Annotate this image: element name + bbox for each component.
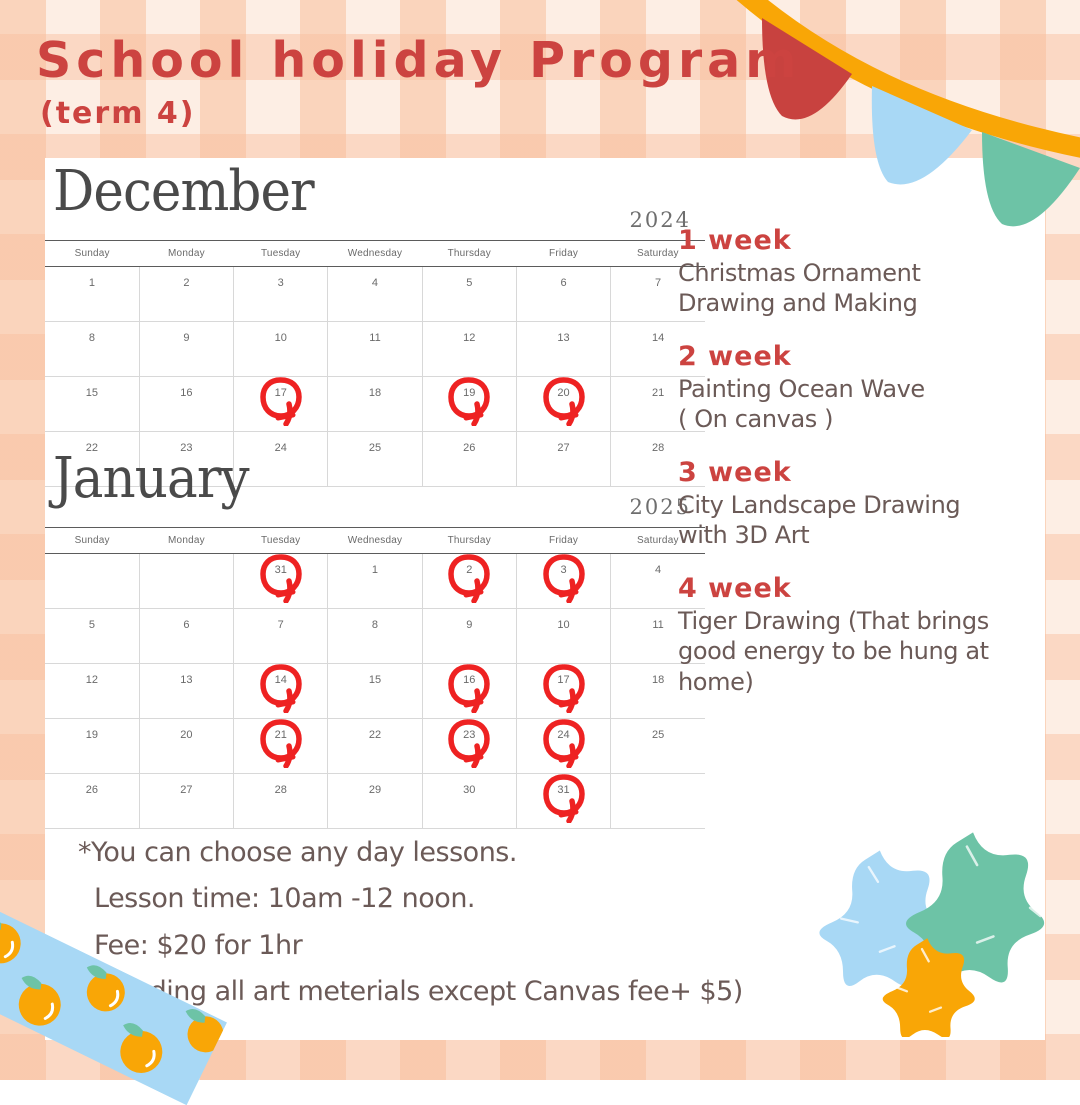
calendar-day-cell[interactable]: 17 <box>516 664 610 719</box>
calendar-week-row: 567891011 <box>45 609 705 664</box>
calendar-body: 3112345678910111213141516171819202122232… <box>45 554 705 829</box>
calendar-day-cell[interactable]: 31 <box>234 554 328 609</box>
day-number: 7 <box>655 277 661 289</box>
day-number: 6 <box>560 277 566 289</box>
program-week-label: 2 week <box>678 341 1058 372</box>
weekday-header: Thursday <box>422 528 516 554</box>
calendar-week-row: 15161718192021 <box>45 377 705 432</box>
note-line: Fee: $20 for 1hr <box>78 923 998 969</box>
day-number: 23 <box>180 442 192 454</box>
weekday-header: Tuesday <box>234 528 328 554</box>
day-number: 10 <box>275 332 287 344</box>
calendar-empty-cell <box>611 774 705 829</box>
day-number: 23 <box>463 729 475 741</box>
poster-header: School holiday Program (term 4) <box>36 36 801 129</box>
day-number: 10 <box>557 619 569 631</box>
calendar-day-cell[interactable]: 2 <box>422 554 516 609</box>
circled-date-marker <box>446 661 492 713</box>
day-number: 28 <box>652 442 664 454</box>
day-number: 14 <box>652 332 664 344</box>
calendar-day-cell[interactable]: 23 <box>422 719 516 774</box>
month-label: December <box>53 164 314 220</box>
day-number: 3 <box>278 277 284 289</box>
page-subtitle: (term 4) <box>40 99 801 129</box>
note-line: Lesson time: 10am -12 noon. <box>78 876 998 922</box>
day-number: 11 <box>652 619 663 631</box>
month-label: January <box>53 451 249 507</box>
weekday-header: Sunday <box>45 528 139 554</box>
day-number: 4 <box>655 564 661 576</box>
day-number: 11 <box>369 332 380 344</box>
day-number: 18 <box>652 674 664 686</box>
day-number: 25 <box>652 729 664 741</box>
day-number: 8 <box>89 332 95 344</box>
calendar-day-cell[interactable]: 17 <box>234 377 328 432</box>
day-number: 16 <box>180 387 192 399</box>
calendar-december-header: December 2024 <box>45 168 705 240</box>
calendar-day-cell[interactable]: 29 <box>328 774 422 829</box>
calendar-day-cell[interactable]: 5 <box>422 267 516 322</box>
weekday-header: Monday <box>139 241 233 267</box>
day-number: 17 <box>557 674 569 686</box>
calendar-week-row: 311234 <box>45 554 705 609</box>
day-number: 27 <box>180 784 192 796</box>
program-description: Tiger Drawing (That bringsgood energy to… <box>678 606 1058 697</box>
calendar-day-cell[interactable]: 28 <box>234 774 328 829</box>
day-number: 12 <box>463 332 475 344</box>
weekday-header: Tuesday <box>234 241 328 267</box>
calendar-day-cell[interactable]: 22 <box>328 719 422 774</box>
calendar-day-cell[interactable]: 3 <box>516 554 610 609</box>
day-number: 8 <box>372 619 378 631</box>
day-number: 30 <box>463 784 475 796</box>
calendar-week-row: 12131415161718 <box>45 664 705 719</box>
calendar-january-header: January 2025 <box>45 455 705 527</box>
calendar-day-cell[interactable]: 6 <box>139 609 233 664</box>
calendar-day-cell[interactable]: 27 <box>139 774 233 829</box>
day-number: 14 <box>275 674 287 686</box>
calendar-december: December 2024 Sunday Monday Tuesday Wedn… <box>45 168 705 487</box>
calendar-day-cell[interactable]: 21 <box>234 719 328 774</box>
program-item: 4 weekTiger Drawing (That bringsgood ene… <box>678 573 1058 697</box>
day-number: 18 <box>369 387 381 399</box>
calendar-day-cell[interactable]: 5 <box>45 609 139 664</box>
day-number: 20 <box>180 729 192 741</box>
calendar-day-cell[interactable]: 20 <box>516 377 610 432</box>
calendar-week-row: 891011121314 <box>45 322 705 377</box>
calendar-day-cell[interactable]: 18 <box>328 377 422 432</box>
circled-date-marker <box>541 771 587 823</box>
calendar-day-cell[interactable]: 7 <box>234 609 328 664</box>
calendar-day-cell[interactable]: 19 <box>422 377 516 432</box>
day-number: 19 <box>463 387 475 399</box>
calendar-day-cell[interactable]: 9 <box>422 609 516 664</box>
day-number: 12 <box>86 674 98 686</box>
program-week-label: 4 week <box>678 573 1058 604</box>
day-number: 9 <box>183 332 189 344</box>
calendar-day-cell[interactable]: 10 <box>234 322 328 377</box>
calendar-day-cell[interactable]: 24 <box>516 719 610 774</box>
day-number: 15 <box>86 387 98 399</box>
day-number: 28 <box>275 784 287 796</box>
program-description: Painting Ocean Wave( On canvas ) <box>678 374 1058 435</box>
calendar-day-cell[interactable]: 19 <box>45 719 139 774</box>
day-number: 26 <box>86 784 98 796</box>
program-item: 3 weekCity Landscape Drawingwith 3D Art <box>678 457 1058 551</box>
program-description: City Landscape Drawingwith 3D Art <box>678 490 1058 551</box>
weekday-header: Monday <box>139 528 233 554</box>
calendar-day-cell[interactable]: 14 <box>234 664 328 719</box>
day-number: 24 <box>275 442 287 454</box>
note-line: (including all art meterials except Canv… <box>78 969 998 1015</box>
day-number: 21 <box>275 729 287 741</box>
weekday-header-row: Sunday Monday Tuesday Wednesday Thursday… <box>45 241 705 267</box>
weekday-header-row: Sunday Monday Tuesday Wednesday Thursday… <box>45 528 705 554</box>
day-number: 26 <box>463 442 475 454</box>
day-number: 31 <box>557 784 569 796</box>
day-number: 2 <box>183 277 189 289</box>
calendar-day-cell[interactable]: 6 <box>516 267 610 322</box>
calendar-day-cell[interactable]: 2 <box>139 267 233 322</box>
circled-date-marker <box>541 551 587 603</box>
calendar-week-row: 262728293031 <box>45 774 705 829</box>
calendar-day-cell[interactable]: 15 <box>45 377 139 432</box>
calendar-day-cell[interactable]: 15 <box>328 664 422 719</box>
weekday-header: Friday <box>516 241 610 267</box>
day-number: 20 <box>557 387 569 399</box>
circled-date-marker <box>541 374 587 426</box>
circled-date-marker <box>258 551 304 603</box>
day-number: 21 <box>652 387 664 399</box>
calendar-day-cell[interactable]: 1 <box>328 554 422 609</box>
day-number: 6 <box>183 619 189 631</box>
day-number: 19 <box>86 729 98 741</box>
weekday-header: Thursday <box>422 241 516 267</box>
calendar-january: January 2025 Sunday Monday Tuesday Wedne… <box>45 455 705 829</box>
calendar-day-cell[interactable]: 13 <box>516 322 610 377</box>
weekday-header: Wednesday <box>328 528 422 554</box>
day-number: 27 <box>557 442 569 454</box>
circled-date-marker <box>446 716 492 768</box>
calendar-empty-cell <box>139 554 233 609</box>
calendar-day-cell[interactable]: 9 <box>139 322 233 377</box>
calendar-day-cell[interactable]: 12 <box>45 664 139 719</box>
day-number: 25 <box>369 442 381 454</box>
day-number: 16 <box>463 674 475 686</box>
calendar-empty-cell <box>45 554 139 609</box>
weekday-header: Wednesday <box>328 241 422 267</box>
day-number: 13 <box>557 332 569 344</box>
weekday-header: Friday <box>516 528 610 554</box>
day-number: 13 <box>180 674 192 686</box>
day-number: 7 <box>278 619 284 631</box>
calendar-day-cell[interactable]: 4 <box>328 267 422 322</box>
day-number: 29 <box>369 784 381 796</box>
circled-date-marker <box>541 661 587 713</box>
day-number: 31 <box>275 564 287 576</box>
day-number: 15 <box>369 674 381 686</box>
program-list: 1 weekChristmas OrnamentDrawing and Maki… <box>678 225 1058 719</box>
calendar-day-cell[interactable]: 31 <box>516 774 610 829</box>
calendar-week-row: 19202122232425 <box>45 719 705 774</box>
day-number: 2 <box>466 564 472 576</box>
day-number: 24 <box>557 729 569 741</box>
calendar-day-cell[interactable]: 25 <box>611 719 705 774</box>
calendar-day-cell[interactable]: 10 <box>516 609 610 664</box>
calendars-region: December 2024 Sunday Monday Tuesday Wedn… <box>45 158 705 918</box>
program-week-label: 3 week <box>678 457 1058 488</box>
calendar-day-cell[interactable]: 16 <box>139 377 233 432</box>
calendar-week-row: 1234567 <box>45 267 705 322</box>
program-item: 2 weekPainting Ocean Wave( On canvas ) <box>678 341 1058 435</box>
calendar-day-cell[interactable]: 8 <box>328 609 422 664</box>
day-number: 9 <box>466 619 472 631</box>
circled-date-marker <box>258 374 304 426</box>
day-number: 3 <box>560 564 566 576</box>
calendar-day-cell[interactable]: 11 <box>328 322 422 377</box>
calendar-day-cell[interactable]: 13 <box>139 664 233 719</box>
day-number: 22 <box>369 729 381 741</box>
day-number: 5 <box>466 277 472 289</box>
calendar-day-cell[interactable]: 1 <box>45 267 139 322</box>
circled-date-marker <box>446 551 492 603</box>
day-number: 17 <box>275 387 287 399</box>
note-line: *You can choose any day lessons. <box>78 830 998 876</box>
circled-date-marker <box>258 661 304 713</box>
footer-notes: *You can choose any day lessons. Lesson … <box>78 830 998 1016</box>
calendar-day-cell[interactable]: 12 <box>422 322 516 377</box>
circled-date-marker <box>258 716 304 768</box>
page-title: School holiday Program <box>36 36 801 85</box>
program-description: Christmas OrnamentDrawing and Making <box>678 258 1058 319</box>
calendar-day-cell[interactable]: 8 <box>45 322 139 377</box>
calendar-day-cell[interactable]: 16 <box>422 664 516 719</box>
day-number: 4 <box>372 277 378 289</box>
calendar-day-cell[interactable]: 30 <box>422 774 516 829</box>
calendar-grid-january: Sunday Monday Tuesday Wednesday Thursday… <box>45 527 705 829</box>
calendar-day-cell[interactable]: 20 <box>139 719 233 774</box>
day-number: 1 <box>89 277 95 289</box>
circled-date-marker <box>541 716 587 768</box>
calendar-day-cell[interactable]: 26 <box>45 774 139 829</box>
day-number: 22 <box>86 442 98 454</box>
day-number: 5 <box>89 619 95 631</box>
weekday-header: Sunday <box>45 241 139 267</box>
circled-date-marker <box>446 374 492 426</box>
calendar-day-cell[interactable]: 3 <box>234 267 328 322</box>
day-number: 1 <box>372 564 378 576</box>
